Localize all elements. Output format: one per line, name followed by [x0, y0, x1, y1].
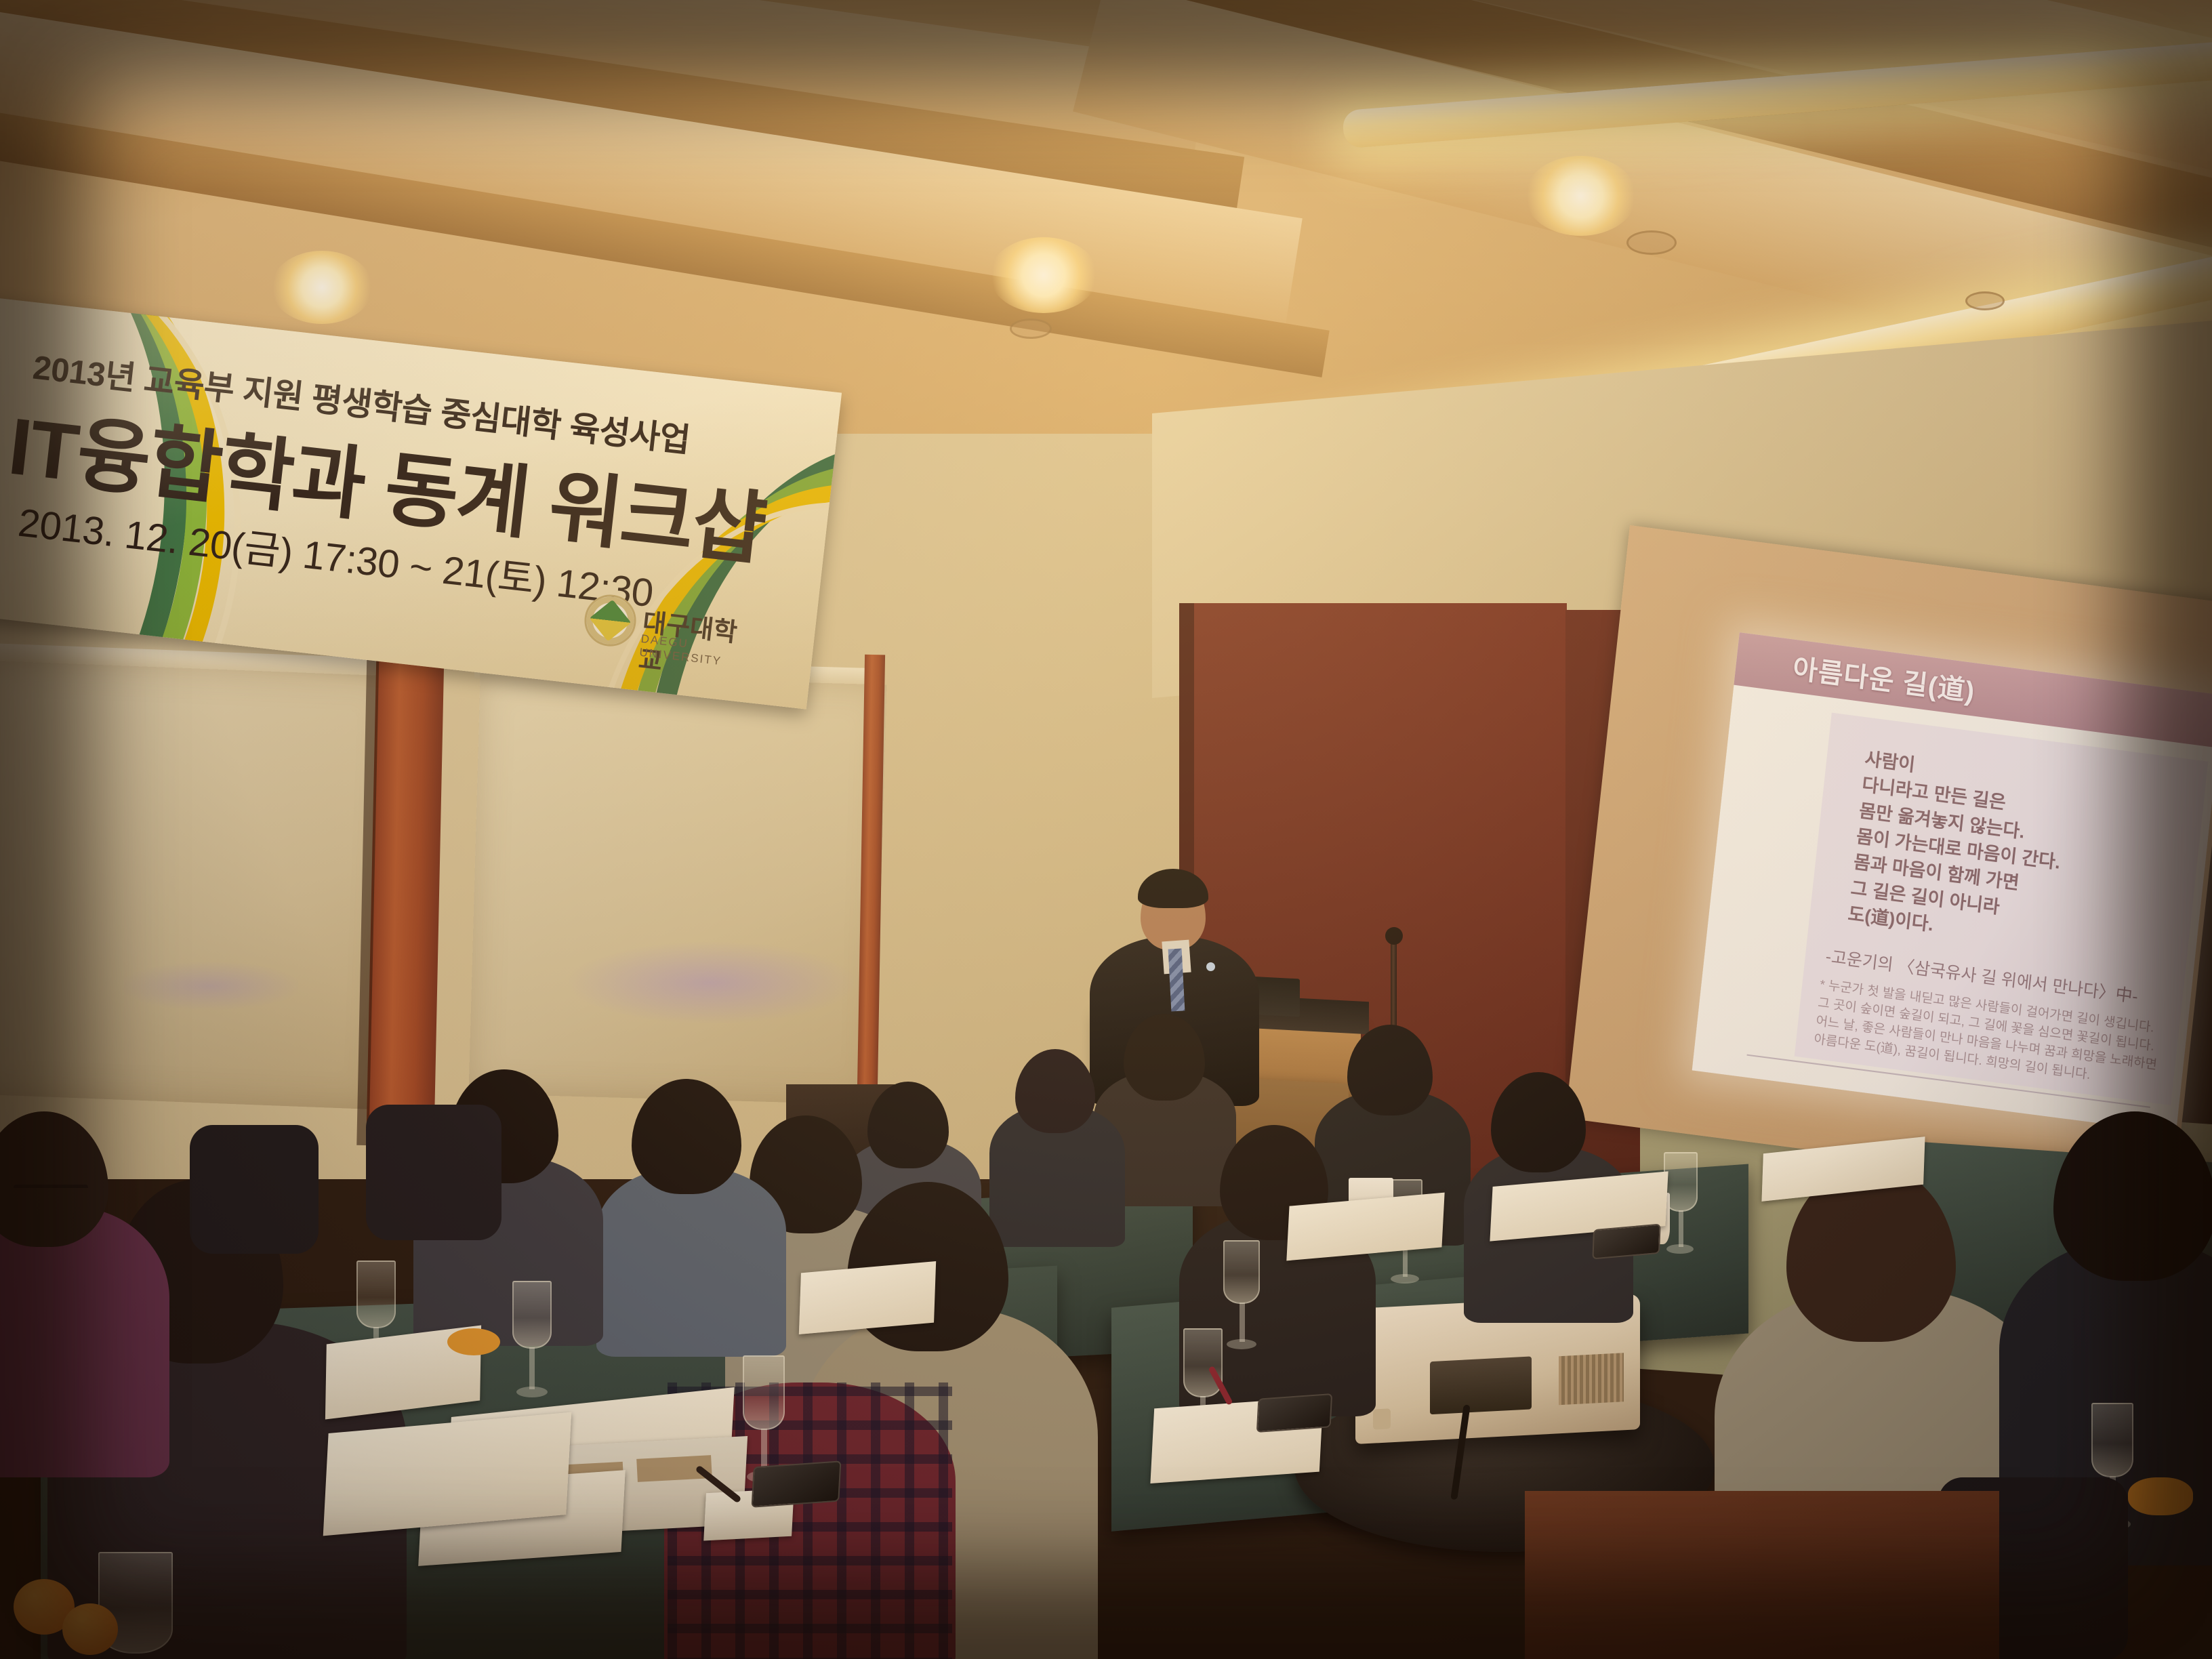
- projection-spill: [569, 942, 854, 1023]
- attendee-body: [0, 1206, 169, 1477]
- projection-spill: [122, 962, 298, 1010]
- tangerine: [62, 1603, 118, 1655]
- sprinkler-icon: [1965, 291, 2005, 310]
- ceiling-downlight: [989, 237, 1098, 313]
- handout: [799, 1261, 936, 1334]
- presentation-slide: 아름다운 길(道) 사람이 다니라고 만든 길은 몸만 옮겨놓지 않는다. 몸이…: [1692, 632, 2212, 1133]
- wood-pillar: [366, 643, 444, 1146]
- smartphone[interactable]: [752, 1460, 842, 1507]
- conference-room-photo: 2013년 교육부 지원 평생학습 중심대학 육성사업 IT융합학과 동계 워크…: [0, 0, 2212, 1659]
- smartphone[interactable]: [1256, 1393, 1332, 1433]
- sprinkler-icon: [1010, 319, 1052, 339]
- ceiling-downlight: [1525, 156, 1637, 236]
- notebook-page: [323, 1412, 572, 1536]
- sprinkler-icon: [1626, 230, 1677, 255]
- eyeglasses-icon: [14, 1185, 88, 1198]
- smartphone[interactable]: [1592, 1223, 1660, 1259]
- presenter-lapel-pin-icon: [1206, 962, 1215, 971]
- tangerine-peel: [2128, 1477, 2193, 1515]
- microphone-head-icon: [1385, 927, 1403, 945]
- tangerine-peel: [447, 1328, 500, 1355]
- ceiling-downlight: [271, 251, 373, 324]
- roller-blind-left[interactable]: [0, 661, 394, 1110]
- projector-foot-icon: [1373, 1408, 1391, 1429]
- wine-glass: [508, 1281, 556, 1403]
- attendee-body: [596, 1167, 786, 1357]
- chair-back: [366, 1105, 501, 1240]
- projector-port-panel: [1430, 1356, 1532, 1414]
- chair-back: [190, 1125, 319, 1254]
- projection-screen-area: 아름다운 길(道) 사람이 다니라고 만든 길은 몸만 옮겨놓지 않는다. 몸이…: [1564, 525, 2212, 1210]
- roller-blind-right[interactable]: [468, 674, 886, 1105]
- projector-vent-icon: [1559, 1353, 1624, 1405]
- carpet-floor: [1525, 1491, 1999, 1659]
- poem-text: 사람이 다니라고 만든 길은 몸만 옮겨놓지 않는다. 몸이 가는대로 마음이 …: [1795, 713, 2208, 1096]
- poem-panel: 사람이 다니라고 만든 길은 몸만 옮겨놓지 않는다. 몸이 가는대로 마음이 …: [1795, 713, 2209, 1105]
